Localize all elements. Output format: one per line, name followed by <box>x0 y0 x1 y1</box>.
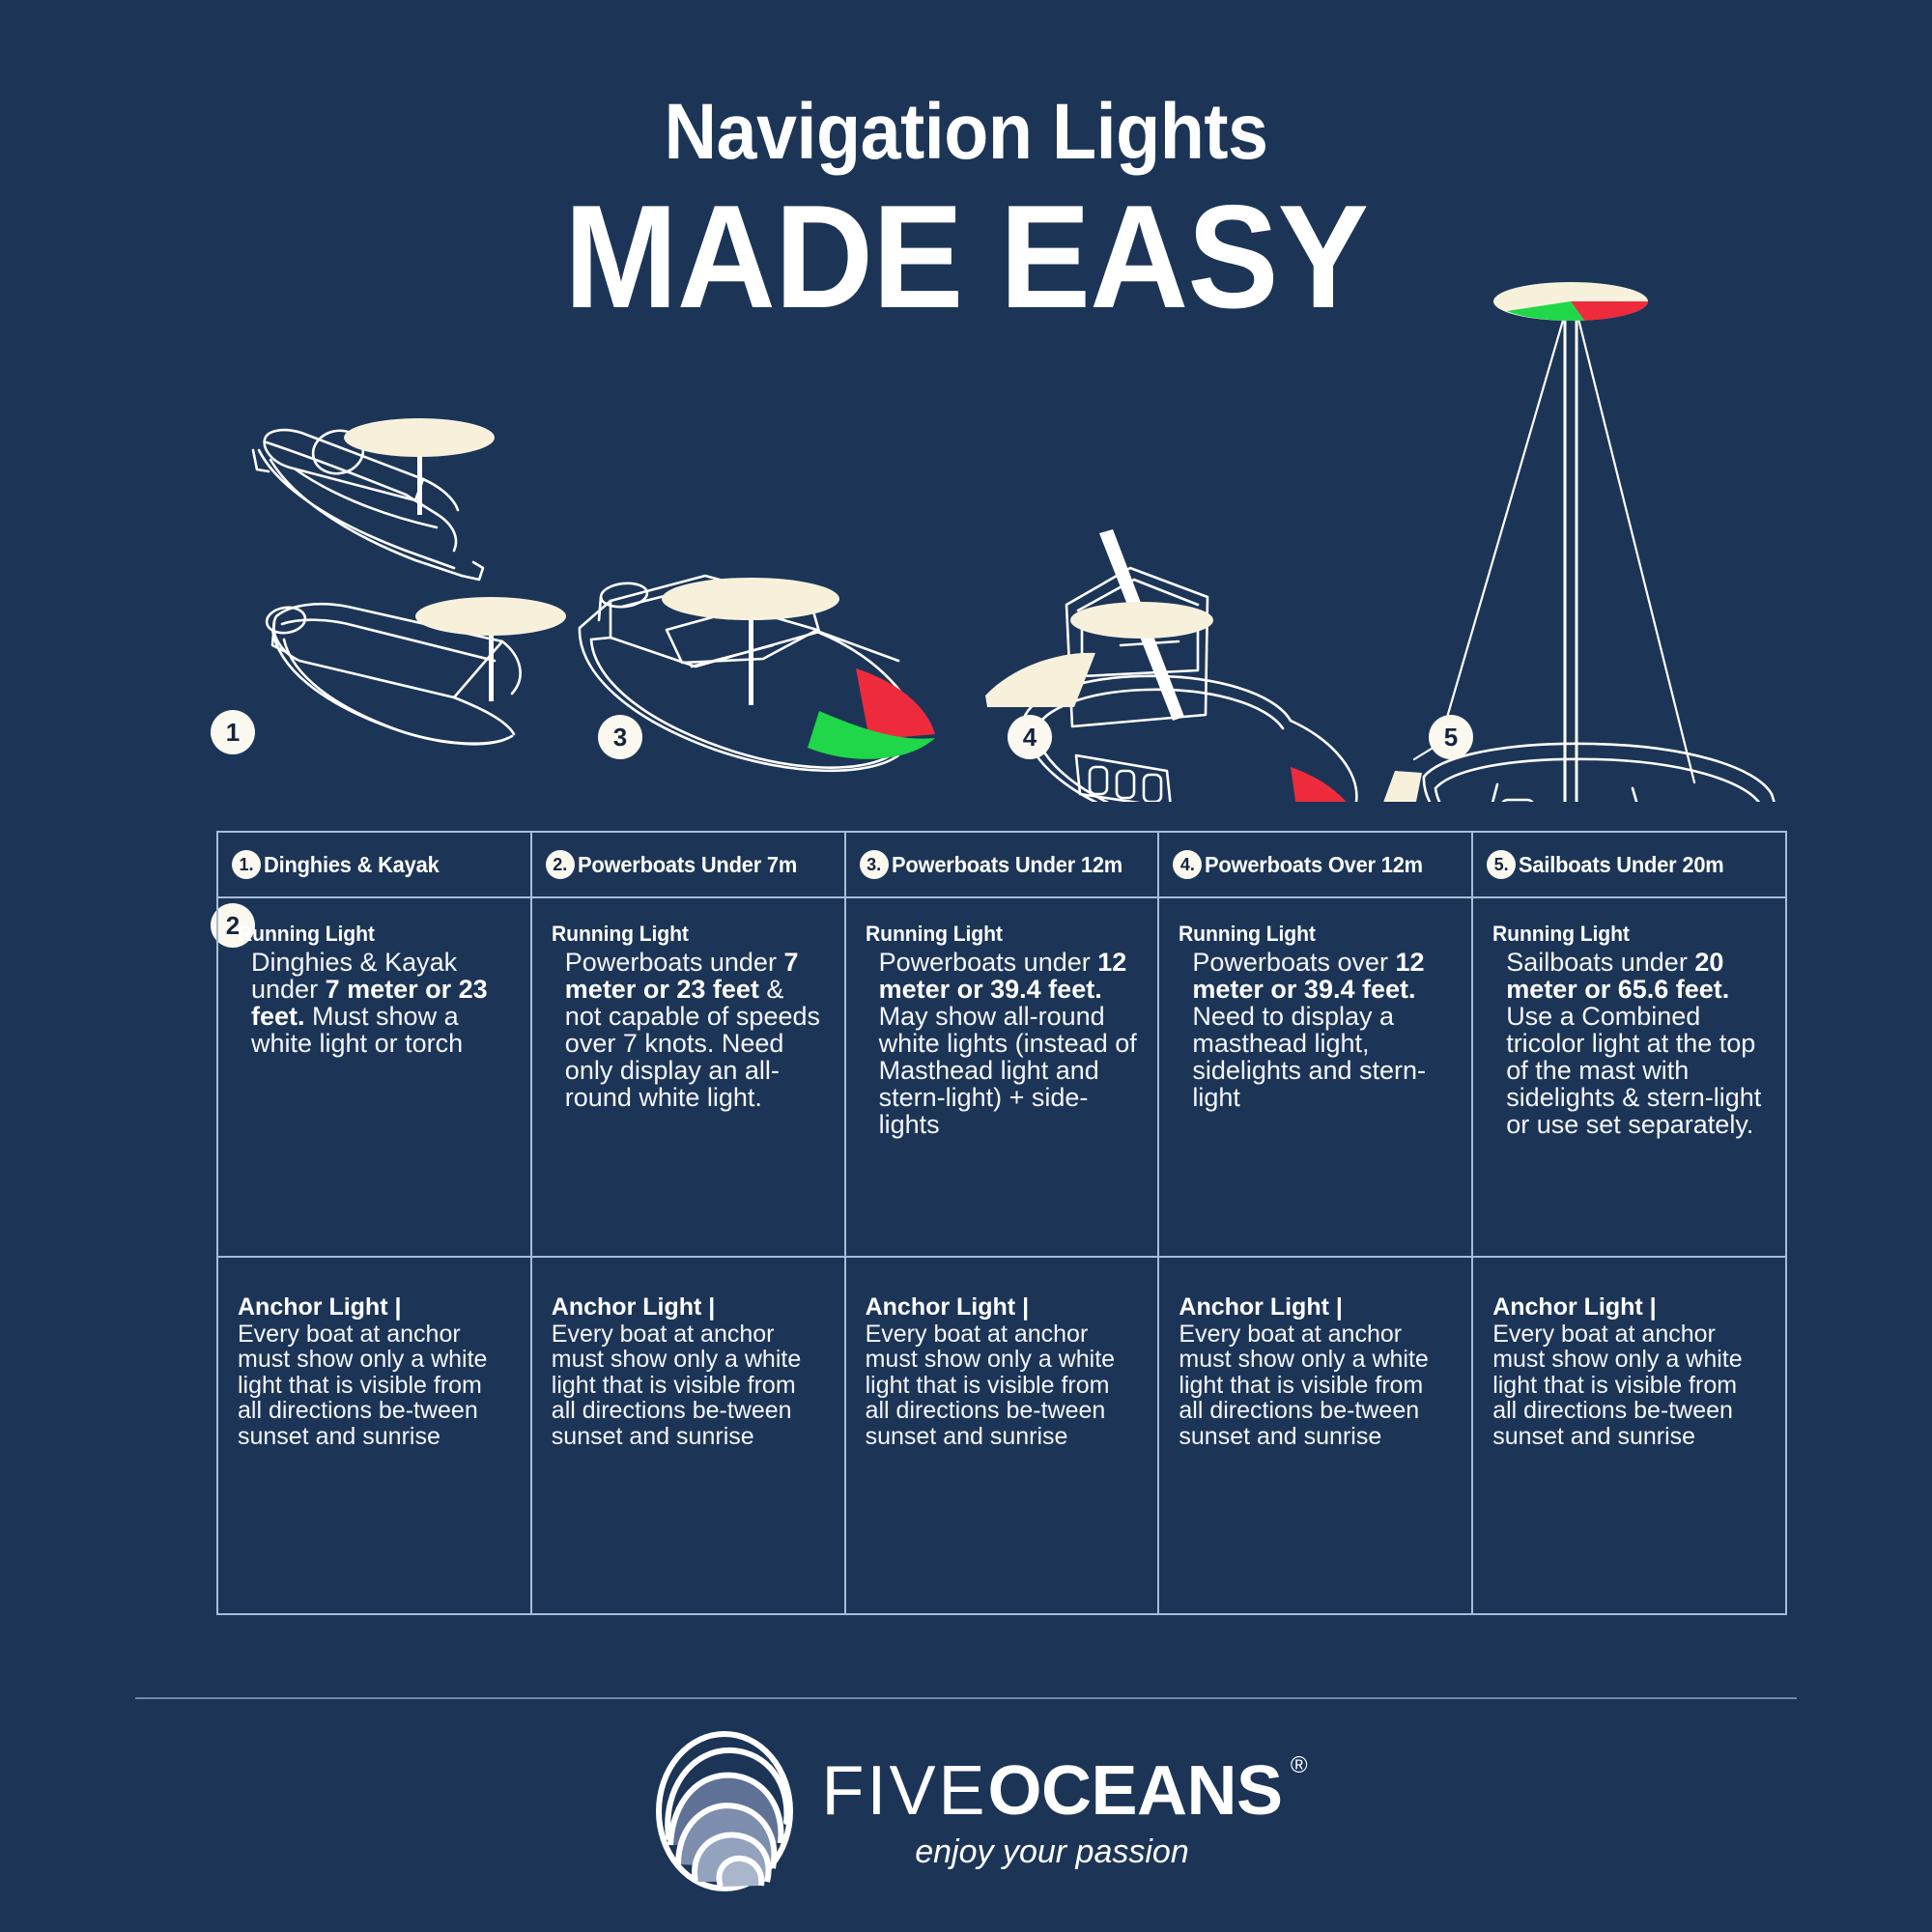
column-header-4: 4. Powerboats Over 12m <box>1159 833 1471 898</box>
anchor-light-text-2: Every boat at anchor must show only a wh… <box>552 1321 801 1450</box>
anchor-light-kicker-3: Anchor Light | <box>866 1294 1141 1321</box>
column-badge-4: 4. <box>1173 850 1202 879</box>
anchor-light-text-5: Every boat at anchor must show only a wh… <box>1492 1321 1742 1450</box>
running-light-cell-1: Running Light Dinghies & Kayak under 7 m… <box>218 898 530 1258</box>
five-oceans-wordmark: FIVEOCEANS ® enjoy your passion <box>821 1756 1282 1871</box>
infographic-page: Navigation Lights MADE EASY <box>0 0 1932 1932</box>
column-header-1: 1. Dinghies & Kayak <box>218 833 530 898</box>
anchor-light-cell-3: Anchor Light | Every boat at anchor must… <box>846 1258 1158 1613</box>
running-light-body-1: Dinghies & Kayak under 7 meter or 23 fee… <box>238 949 513 1057</box>
brand-oceans: OCEANS <box>987 1752 1282 1830</box>
running-light-cell-4: Running Light Powerboats over 12 meter o… <box>1159 898 1471 1258</box>
running-light-kicker-4: Running Light <box>1179 922 1442 947</box>
anchor-light-kicker-2: Anchor Light | <box>552 1294 827 1321</box>
anchor-light-body-3: Anchor Light | Every boat at anchor must… <box>866 1294 1141 1449</box>
table-column-5: 5. Sailboats Under 20m Running Light Sai… <box>1473 833 1785 1613</box>
table-column-1: 1. Dinghies & Kayak Running Light Dinghi… <box>218 833 532 1613</box>
anchor-light-body-4: Anchor Light | Every boat at anchor must… <box>1179 1294 1454 1449</box>
table-column-2: 2. Powerboats Under 7m Running Light Pow… <box>532 833 846 1613</box>
running-light-body-2: Powerboats under 7 meter or 23 feet & no… <box>552 949 827 1111</box>
anchor-light-cell-5: Anchor Light | Every boat at anchor must… <box>1473 1258 1785 1613</box>
anchor-light-body-1: Anchor Light | Every boat at anchor must… <box>238 1294 513 1449</box>
running-light-cell-5: Running Light Sailboats under 20 meter o… <box>1473 898 1785 1258</box>
running-light-kicker-2: Running Light <box>552 922 815 947</box>
anchor-light-cell-1: Anchor Light | Every boat at anchor must… <box>218 1258 530 1613</box>
column-header-3: 3. Powerboats Under 12m <box>846 833 1158 898</box>
running-light-body-3: Powerboats under 12 meter or 39.4 feet. … <box>866 949 1141 1139</box>
column-badge-2: 2. <box>546 850 575 879</box>
boat-badge-3: 3 <box>598 715 642 759</box>
column-title-3: Powerboats Under 12m <box>892 852 1122 878</box>
footer-divider <box>135 1697 1797 1699</box>
boat-illustrations: 1 2 3 4 5 <box>0 261 1932 802</box>
column-title-1: Dinghies & Kayak <box>264 852 440 878</box>
table-column-4: 4. Powerboats Over 12m Running Light Pow… <box>1159 833 1473 1613</box>
registered-trademark-icon: ® <box>1291 1752 1308 1779</box>
anchor-light-text-4: Every boat at anchor must show only a wh… <box>1179 1321 1428 1450</box>
five-oceans-logo-icon <box>649 1729 800 1898</box>
navigation-lights-table: 1. Dinghies & Kayak Running Light Dinghi… <box>216 831 1787 1615</box>
brand-tagline: enjoy your passion <box>821 1833 1282 1871</box>
anchor-light-body-5: Anchor Light | Every boat at anchor must… <box>1492 1294 1768 1449</box>
anchor-light-kicker-1: Anchor Light | <box>238 1294 513 1321</box>
running-light-cell-3: Running Light Powerboats under 12 meter … <box>846 898 1158 1258</box>
title-line-1: Navigation Lights <box>77 93 1855 172</box>
anchor-light-cell-4: Anchor Light | Every boat at anchor must… <box>1159 1258 1471 1613</box>
column-badge-1: 1. <box>232 850 261 879</box>
anchor-light-text-1: Every boat at anchor must show only a wh… <box>238 1321 487 1450</box>
boat-badge-1: 1 <box>211 710 255 754</box>
anchor-light-text-3: Every boat at anchor must show only a wh… <box>866 1321 1115 1450</box>
anchor-light-kicker-5: Anchor Light | <box>1492 1294 1768 1321</box>
brand-five: FIVE <box>821 1752 987 1830</box>
boat-badge-4: 4 <box>1008 715 1052 759</box>
running-light-kicker-5: Running Light <box>1492 922 1756 947</box>
port-light-3 <box>856 668 935 740</box>
anchor-light-kicker-4: Anchor Light | <box>1179 1294 1454 1321</box>
anchor-light-body-2: Anchor Light | Every boat at anchor must… <box>552 1294 827 1449</box>
column-badge-5: 5. <box>1487 850 1516 879</box>
anchor-light-cell-2: Anchor Light | Every boat at anchor must… <box>532 1258 844 1613</box>
masthead-light-4 <box>1070 602 1213 639</box>
tricolor-masthead-light-5 <box>1493 282 1648 321</box>
running-light-body-5: Sailboats under 20 meter or 65.6 feet. U… <box>1492 949 1768 1139</box>
boat-badge-5: 5 <box>1429 715 1473 759</box>
brand-name: FIVEOCEANS <box>821 1756 1282 1826</box>
running-light-cell-2: Running Light Powerboats under 7 meter o… <box>532 898 844 1258</box>
running-light-kicker-1: Running Light <box>238 922 501 947</box>
column-title-2: Powerboats Under 7m <box>578 852 797 878</box>
column-badge-3: 3. <box>860 850 889 879</box>
footer-branding: FIVEOCEANS ® enjoy your passion <box>0 1729 1932 1898</box>
column-title-5: Sailboats Under 20m <box>1519 852 1724 878</box>
running-light-kicker-3: Running Light <box>866 922 1129 947</box>
stern-light-5 <box>1381 771 1422 802</box>
column-header-2: 2. Powerboats Under 7m <box>532 833 844 898</box>
column-title-4: Powerboats Over 12m <box>1205 852 1423 878</box>
column-header-5: 5. Sailboats Under 20m <box>1473 833 1785 898</box>
table-column-3: 3. Powerboats Under 12m Running Light Po… <box>846 833 1160 1613</box>
running-light-body-4: Powerboats over 12 meter or 39.4 feet. N… <box>1179 949 1454 1111</box>
